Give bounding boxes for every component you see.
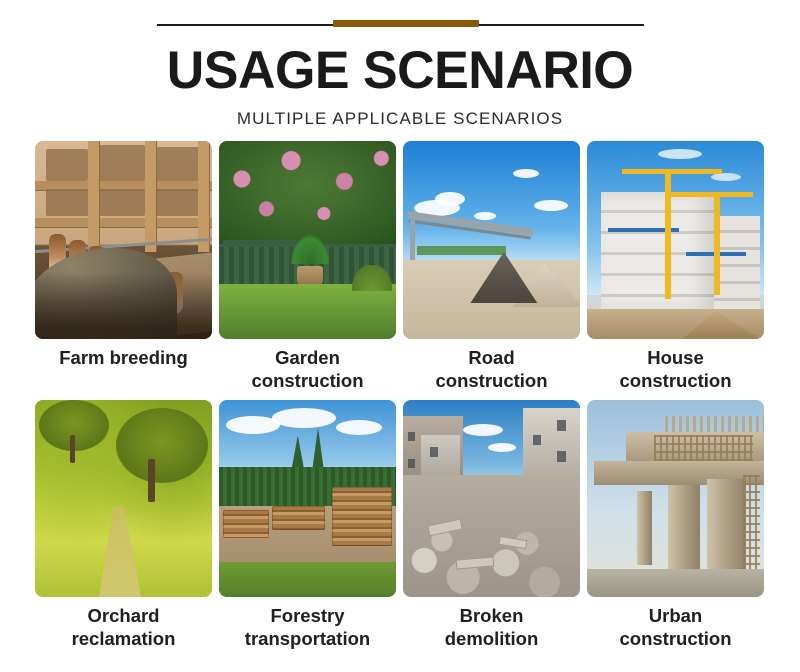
grid-row-spacer [35, 392, 764, 400]
scenario-card-orchard-reclamation[interactable]: Orchard reclamation [35, 400, 212, 650]
label-line: Road [399, 346, 584, 369]
scenario-label: Garden construction [215, 346, 400, 392]
scenario-card-road-construction[interactable]: Road construction [403, 141, 580, 392]
scenario-card-farm-breeding[interactable]: Farm breeding [35, 141, 212, 392]
scenario-grid: Farm breeding Garden construction [35, 141, 765, 650]
label-line: transportation [215, 627, 400, 650]
label-line: Farm breeding [31, 346, 216, 369]
label-line: House [583, 346, 768, 369]
house-construction-photo [587, 141, 764, 339]
label-line: construction [399, 369, 584, 392]
broken-demolition-photo [403, 400, 580, 597]
label-line: Garden [215, 346, 400, 369]
header-divider [157, 18, 644, 31]
orchard-reclamation-photo [35, 400, 212, 597]
scenario-label: House construction [583, 346, 768, 392]
farm-breeding-photo [35, 141, 212, 339]
road-construction-photo [403, 141, 580, 339]
scenario-card-house-construction[interactable]: House construction [587, 141, 764, 392]
page-header: USAGE SCENARIO MULTIPLE APPLICABLE SCENA… [0, 0, 800, 129]
page-title: USAGE SCENARIO [8, 43, 792, 99]
label-line: construction [215, 369, 400, 392]
scenario-card-urban-construction[interactable]: Urban construction [587, 400, 764, 650]
label-line: Urban [583, 604, 768, 627]
scenario-label: Broken demolition [399, 604, 584, 650]
scenario-label: Orchard reclamation [31, 604, 216, 650]
label-line: Broken [399, 604, 584, 627]
scenario-card-forestry-transportation[interactable]: Forestry transportation [219, 400, 396, 650]
scenario-card-garden-construction[interactable]: Garden construction [219, 141, 396, 392]
scenario-label: Urban construction [583, 604, 768, 650]
label-line: construction [583, 369, 768, 392]
divider-accent-bar [333, 20, 479, 27]
urban-construction-photo [587, 400, 764, 597]
label-line: Forestry [215, 604, 400, 627]
garden-construction-photo [219, 141, 396, 339]
scenario-label: Road construction [399, 346, 584, 392]
label-line: construction [583, 627, 768, 650]
scenario-label: Farm breeding [31, 346, 216, 369]
label-line: demolition [399, 627, 584, 650]
page-subtitle: MULTIPLE APPLICABLE SCENARIOS [0, 109, 800, 129]
label-line: reclamation [31, 627, 216, 650]
forestry-transportation-photo [219, 400, 396, 597]
scenario-card-broken-demolition[interactable]: Broken demolition [403, 400, 580, 650]
scenario-label: Forestry transportation [215, 604, 400, 650]
label-line: Orchard [31, 604, 216, 627]
